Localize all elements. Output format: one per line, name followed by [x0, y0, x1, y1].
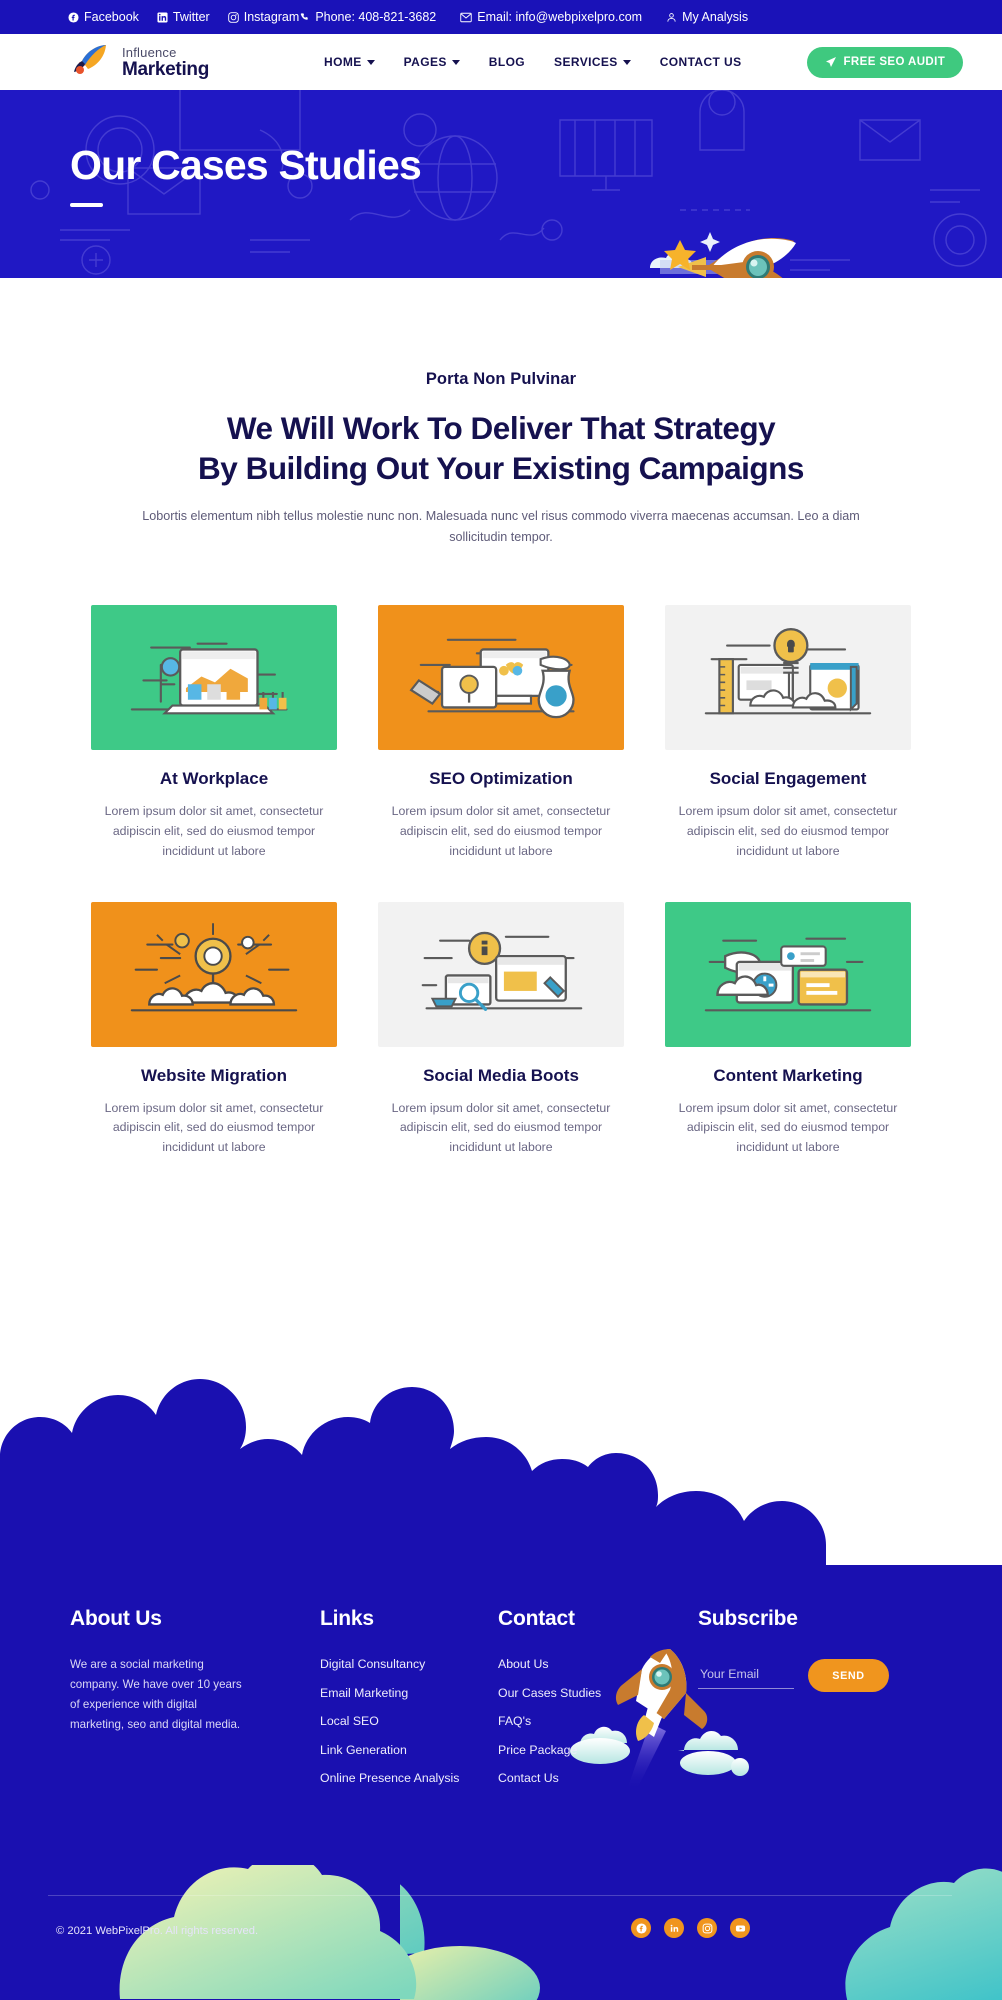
- service-card-image: [378, 902, 624, 1047]
- nav-item-contact-us-label: CONTACT US: [660, 55, 742, 69]
- facebook-icon: [68, 12, 79, 23]
- footer-links-heading: Links: [320, 1607, 498, 1631]
- service-card-title: At Workplace: [91, 769, 337, 789]
- service-card-image: [91, 902, 337, 1047]
- section-subtitle: Lobortis elementum nibh tellus molestie …: [121, 506, 881, 549]
- service-card-description: Lorem ipsum dolor sit amet, consectetur …: [665, 802, 911, 862]
- topbar-phone[interactable]: Phone: 408-821-3682: [299, 10, 436, 24]
- free-seo-audit-label: FREE SEO AUDIT: [844, 56, 946, 68]
- service-card-description: Lorem ipsum dolor sit amet, consectetur …: [378, 802, 624, 862]
- topbar-my-analysis[interactable]: My Analysis: [666, 10, 748, 24]
- service-card-description: Lorem ipsum dolor sit amet, consectetur …: [91, 802, 337, 862]
- logo-line-2: Marketing: [122, 60, 209, 79]
- top-bar-contact-group: Phone: 408-821-3682 Email: info@webpixel…: [299, 10, 748, 24]
- site-logo[interactable]: Influence Marketing: [68, 39, 209, 85]
- footer-link-item[interactable]: Link Generation: [320, 1743, 498, 1757]
- footer-contact-item[interactable]: Contact Us: [498, 1771, 698, 1785]
- hero-banner: Our Cases Studies: [0, 90, 1002, 278]
- linkedin-icon: [157, 12, 168, 23]
- service-card-title: SEO Optimization: [378, 769, 624, 789]
- service-illustration-migration: [91, 902, 337, 1047]
- topbar-facebook-link[interactable]: Facebook: [68, 10, 139, 24]
- footer-links-list: Digital ConsultancyEmail MarketingLocal …: [320, 1657, 498, 1785]
- service-card-description: Lorem ipsum dolor sit amet, consectetur …: [91, 1099, 337, 1159]
- phone-icon: [299, 12, 310, 23]
- chevron-down-icon: [367, 60, 375, 65]
- footer-facebook-button[interactable]: [631, 1918, 651, 1938]
- topbar-phone-label: Phone: 408-821-3682: [315, 10, 436, 24]
- nav-item-home[interactable]: HOME: [324, 55, 375, 69]
- hero-rocket-illustration: [640, 210, 830, 278]
- footer-youtube-button[interactable]: [730, 1918, 750, 1938]
- subscribe-form: SEND: [698, 1659, 948, 1692]
- service-card-description: Lorem ipsum dolor sit amet, consectetur …: [378, 1099, 624, 1159]
- footer-social-links: [631, 1918, 750, 1938]
- instagram-icon: [702, 1923, 713, 1934]
- envelope-icon: [460, 12, 472, 23]
- service-illustration-workplace: [91, 605, 337, 750]
- youtube-icon: [735, 1923, 746, 1934]
- footer-link-item[interactable]: Email Marketing: [320, 1686, 498, 1700]
- service-card-title: Website Migration: [91, 1066, 337, 1086]
- copyright-text: © 2021 WebPixelPro. All rights reserved.: [56, 1925, 258, 1937]
- section-header: Porta Non Pulvinar We Will Work To Deliv…: [0, 278, 1002, 549]
- nav-menu: HOME PAGES BLOG SERVICES CONTACT US FREE…: [324, 47, 963, 78]
- service-card-title: Social Engagement: [665, 769, 911, 789]
- free-seo-audit-button[interactable]: FREE SEO AUDIT: [807, 47, 964, 78]
- footer-contact-item[interactable]: FAQ's: [498, 1714, 698, 1728]
- topbar-instagram-label: Instagram: [244, 10, 300, 24]
- footer-columns: About Us We are a social marketing compa…: [70, 1607, 950, 1785]
- instagram-icon: [228, 12, 239, 23]
- nav-item-home-label: HOME: [324, 55, 362, 69]
- chevron-down-icon: [623, 60, 631, 65]
- service-illustration-content: [665, 902, 911, 1047]
- footer-contact-heading: Contact: [498, 1607, 698, 1631]
- topbar-my-analysis-label: My Analysis: [682, 10, 748, 24]
- service-card[interactable]: Website MigrationLorem ipsum dolor sit a…: [91, 902, 337, 1159]
- footer-contact-list: About UsOur Cases StudiesFAQ'sPrice Pack…: [498, 1657, 698, 1785]
- nav-item-services[interactable]: SERVICES: [554, 55, 631, 69]
- service-card-description: Lorem ipsum dolor sit amet, consectetur …: [665, 1099, 911, 1159]
- services-grid: At WorkplaceLorem ipsum dolor sit amet, …: [91, 605, 911, 1158]
- facebook-icon: [636, 1923, 647, 1934]
- topbar-instagram-link[interactable]: Instagram: [228, 10, 300, 24]
- service-card-title: Social Media Boots: [378, 1066, 624, 1086]
- nav-item-blog[interactable]: BLOG: [489, 55, 525, 69]
- topbar-email[interactable]: Email: info@webpixelpro.com: [460, 10, 642, 24]
- footer-divider: [48, 1895, 952, 1896]
- user-icon: [666, 12, 677, 23]
- footer-contact-column: Contact About UsOur Cases StudiesFAQ'sPr…: [498, 1607, 698, 1785]
- footer-link-item[interactable]: Online Presence Analysis: [320, 1771, 498, 1785]
- section-title-line-1: We Will Work To Deliver That Strategy: [0, 408, 1002, 448]
- service-card-image: [665, 605, 911, 750]
- topbar-email-label: Email: info@webpixelpro.com: [477, 10, 642, 24]
- footer-subscribe-heading: Subscribe: [698, 1607, 948, 1631]
- service-illustration-social: [665, 605, 911, 750]
- footer-link-item[interactable]: Local SEO: [320, 1714, 498, 1728]
- topbar-twitter-label: Twitter: [173, 10, 210, 24]
- nav-item-contact-us[interactable]: CONTACT US: [660, 55, 742, 69]
- nav-item-pages[interactable]: PAGES: [404, 55, 460, 69]
- footer: About Us We are a social marketing compa…: [0, 1565, 1002, 2000]
- footer-subscribe-column: Subscribe SEND: [698, 1607, 948, 1785]
- footer-about-text: We are a social marketing company. We ha…: [70, 1655, 250, 1735]
- paper-plane-icon: [825, 56, 837, 68]
- hero-title: Our Cases Studies: [70, 142, 421, 189]
- top-bar-social-group: Facebook Twitter Instagram: [68, 10, 299, 24]
- chevron-down-icon: [452, 60, 460, 65]
- topbar-facebook-label: Facebook: [84, 10, 139, 24]
- service-card[interactable]: Social EngagementLorem ipsum dolor sit a…: [665, 605, 911, 862]
- topbar-twitter-link[interactable]: Twitter: [157, 10, 210, 24]
- service-card[interactable]: SEO OptimizationLorem ipsum dolor sit am…: [378, 605, 624, 862]
- service-card-image: [378, 605, 624, 750]
- service-card-image: [91, 605, 337, 750]
- service-card-image: [665, 902, 911, 1047]
- linkedin-icon: [669, 1923, 680, 1934]
- subscribe-send-button[interactable]: SEND: [808, 1659, 889, 1692]
- footer-section: About Us We are a social marketing compa…: [0, 1369, 1002, 2000]
- nav-item-services-label: SERVICES: [554, 55, 618, 69]
- hero-underline: [70, 203, 103, 207]
- logo-line-1: Influence: [122, 46, 209, 59]
- footer-link-item[interactable]: Digital Consultancy: [320, 1657, 498, 1671]
- section-title: We Will Work To Deliver That Strategy By…: [0, 408, 1002, 488]
- service-card[interactable]: Content MarketingLorem ipsum dolor sit a…: [665, 902, 911, 1159]
- subscribe-email-input[interactable]: [698, 1663, 794, 1689]
- footer-instagram-button[interactable]: [697, 1918, 717, 1938]
- service-card-title: Content Marketing: [665, 1066, 911, 1086]
- service-illustration-seo: [378, 605, 624, 750]
- rocket-logo-icon: [68, 39, 114, 85]
- nav-item-pages-label: PAGES: [404, 55, 447, 69]
- service-card[interactable]: Social Media BootsLorem ipsum dolor sit …: [378, 902, 624, 1159]
- service-illustration-boots: [378, 902, 624, 1047]
- top-bar: Facebook Twitter Instagram Phone: 408-82…: [0, 0, 1002, 34]
- footer-about-column: About Us We are a social marketing compa…: [70, 1607, 320, 1785]
- footer-contact-item[interactable]: Price Package: [498, 1743, 698, 1757]
- footer-linkedin-button[interactable]: [664, 1918, 684, 1938]
- footer-about-heading: About Us: [70, 1607, 320, 1631]
- service-card[interactable]: At WorkplaceLorem ipsum dolor sit amet, …: [91, 605, 337, 862]
- footer-contact-item[interactable]: About Us: [498, 1657, 698, 1671]
- main-navigation: Influence Marketing HOME PAGES BLOG SERV…: [0, 34, 1002, 90]
- nav-item-blog-label: BLOG: [489, 55, 525, 69]
- footer-links-column: Links Digital ConsultancyEmail Marketing…: [320, 1607, 498, 1785]
- section-title-line-2: By Building Out Your Existing Campaigns: [0, 448, 1002, 488]
- footer-contact-item[interactable]: Our Cases Studies: [498, 1686, 698, 1700]
- section-kicker: Porta Non Pulvinar: [0, 370, 1002, 389]
